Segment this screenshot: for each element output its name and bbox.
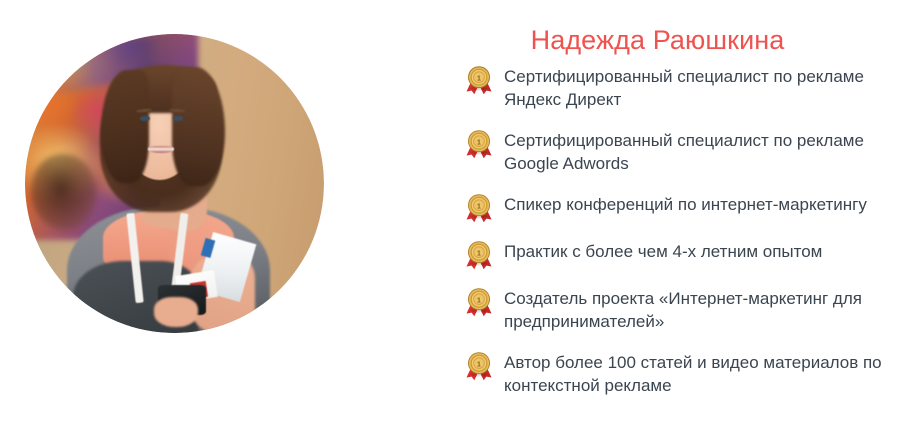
photo-person-hair-left	[101, 70, 149, 184]
credential-item: 1 Сертифицированный специалист по реклам…	[455, 128, 904, 175]
credential-text: Сертифицированный специалист по рекламе …	[493, 64, 896, 111]
medal-icon: 1	[465, 240, 493, 270]
profile-name: Надежда Раюшкина	[455, 25, 860, 55]
photo-person-eye-right	[173, 116, 183, 120]
svg-text:1: 1	[477, 298, 481, 305]
photo-person-eye-left	[140, 116, 150, 120]
profile-card: Надежда Раюшкина 1	[0, 0, 904, 441]
credential-text: Практик с более чем 4-х летним опытом	[493, 239, 822, 264]
svg-text:1: 1	[477, 251, 481, 258]
medal-icon: 1	[465, 65, 493, 95]
credential-text: Создатель проекта «Интернет-маркетинг дл…	[493, 286, 896, 333]
photo-person-mouth	[148, 146, 175, 153]
medal-icon: 1	[465, 287, 493, 317]
credential-item: 1 Создатель проекта «Интернет-маркетинг …	[455, 286, 904, 333]
credentials-list: 1 Сертифицированный специалист по реклам…	[455, 64, 904, 414]
credential-item: 1 Практик с более чем 4-х летним опытом	[455, 239, 904, 269]
svg-text:1: 1	[477, 140, 481, 147]
credential-item: 1 Спикер конференций по интернет-маркети…	[455, 192, 904, 222]
medal-icon: 1	[465, 193, 493, 223]
credential-text: Сертифицированный специалист по рекламе …	[493, 128, 896, 175]
photo-person-hair-right	[172, 67, 226, 187]
profile-details: Надежда Раюшкина 1	[455, 0, 904, 441]
photo-person-hand	[154, 297, 199, 327]
credential-text: Спикер конференций по интернет-маркетинг…	[493, 192, 867, 217]
credential-item: 1 Сертифицированный специалист по реклам…	[455, 64, 904, 111]
photo-person	[25, 34, 324, 333]
svg-text:1: 1	[477, 362, 481, 369]
svg-text:1: 1	[477, 76, 481, 83]
profile-photo	[25, 34, 324, 333]
credential-item: 1 Автор более 100 статей и видео материа…	[455, 350, 904, 397]
credential-text: Автор более 100 статей и видео материало…	[493, 350, 896, 397]
profile-photo-image	[25, 34, 324, 333]
medal-icon: 1	[465, 129, 493, 159]
svg-text:1: 1	[477, 204, 481, 211]
medal-icon: 1	[465, 351, 493, 381]
